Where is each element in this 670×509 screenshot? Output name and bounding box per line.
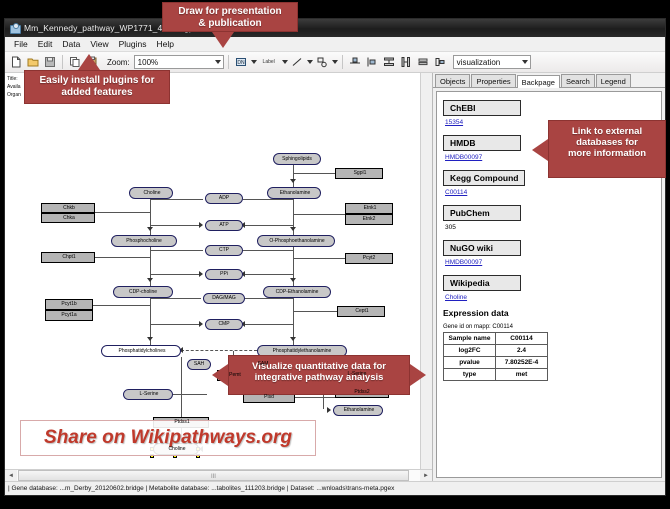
pathway-node-cmp[interactable]: CMP	[205, 319, 243, 330]
scroll-grip-icon: III	[211, 474, 216, 480]
tab-search[interactable]: Search	[561, 74, 595, 87]
toolbar-separator	[228, 55, 229, 69]
group-button[interactable]	[432, 54, 448, 70]
zoom-label: Zoom:	[107, 58, 130, 67]
pathway-gene-sgpl1[interactable]: Sgpl1	[335, 168, 383, 179]
side-panel-tabs: Objects Properties Backpage Search Legen…	[433, 73, 665, 88]
node-label: Cept1	[354, 309, 369, 314]
expr-value: met	[496, 369, 548, 381]
pathway-gene-pcyt1a[interactable]: Pcyt1a	[45, 310, 93, 321]
edge	[293, 165, 294, 187]
node-label: L-Serine	[139, 392, 160, 397]
pathway-node-l-serine-left[interactable]: L-Serine	[123, 389, 173, 400]
distribute-vertical-button[interactable]	[381, 54, 397, 70]
pathway-gene-cept1[interactable]: Cept1	[337, 306, 385, 317]
node-label: Chpt1	[61, 255, 76, 260]
open-file-button[interactable]	[25, 54, 41, 70]
pathway-node-ppi[interactable]: PPi	[205, 269, 243, 280]
chevron-down-icon	[522, 60, 528, 64]
canvas-vertical-scrollbar[interactable]	[420, 73, 432, 469]
node-label: Ptdss1	[173, 420, 190, 425]
pathway-canvas[interactable]: Title: Availa Organ	[5, 73, 432, 469]
pathway-gene-chka[interactable]: Chka	[41, 213, 95, 223]
table-row: log2FC 2.4	[444, 345, 548, 357]
db-header-hmdb: HMDB	[443, 135, 521, 151]
scroll-left-icon[interactable]: ◄	[5, 470, 17, 481]
pathway-gene-pcyt1b[interactable]: Pcyt1b	[45, 299, 93, 310]
expr-key: pvalue	[444, 357, 496, 369]
expr-key: log2FC	[444, 345, 496, 357]
pathway-node-phosphatidylcholines[interactable]: Phosphatidylcholines	[101, 345, 181, 357]
scroll-track[interactable]: III	[17, 470, 420, 481]
expression-data-title: Expression data	[443, 308, 661, 318]
edge	[151, 298, 201, 299]
db-header-chebi: ChEBI	[443, 100, 521, 116]
edge	[95, 212, 151, 213]
edge	[93, 305, 151, 306]
chevron-down-icon[interactable]	[251, 60, 257, 64]
node-label: SAM	[257, 362, 270, 367]
pathway-node-o-phosphoethanolamine[interactable]: O-Phosphoethanolamine	[257, 235, 335, 247]
pathway-node-choline[interactable]: Choline	[129, 187, 173, 199]
db-header-wikipedia: Wikipedia	[443, 275, 521, 291]
arrowhead-icon	[290, 278, 296, 282]
expr-key: type	[444, 369, 496, 381]
node-label: Etnk2	[362, 217, 377, 222]
arrowhead-icon	[147, 278, 153, 282]
edge	[293, 173, 335, 174]
menu-view[interactable]: View	[85, 38, 113, 50]
callout-visualize-arrow-right-icon	[410, 364, 426, 386]
arrowhead-icon	[290, 227, 296, 231]
node-label: Choline	[143, 191, 162, 196]
new-file-button[interactable]	[8, 54, 24, 70]
edge	[243, 199, 293, 200]
menubar: File Edit Data View Plugins Help	[5, 37, 665, 52]
edge	[245, 298, 293, 299]
tab-backpage[interactable]: Backpage	[517, 75, 560, 88]
node-label: SAH	[193, 362, 205, 367]
save-file-button[interactable]	[42, 54, 58, 70]
canvas-horizontal-scrollbar[interactable]: ◄ III ►	[5, 469, 432, 481]
node-label: Ethanolamine	[343, 408, 376, 413]
arrowhead-icon	[147, 227, 153, 231]
edge	[293, 311, 337, 312]
datanode-button[interactable]: DN	[233, 54, 249, 70]
pathway-node-cdp-choline[interactable]: CDP-choline	[113, 286, 173, 298]
label-button[interactable]: Label	[258, 54, 280, 70]
menu-file[interactable]: File	[9, 38, 33, 50]
tab-objects[interactable]: Objects	[435, 74, 470, 87]
pathway-node-dag-mag[interactable]: DAG/MAG	[203, 293, 245, 304]
zoom-combo[interactable]: 100%	[134, 55, 224, 69]
chevron-down-icon	[215, 60, 221, 64]
db-link-kegg-compound[interactable]: C00114	[445, 189, 661, 196]
pathway-node-ctp[interactable]: CTP	[205, 245, 243, 256]
node-label: Chka	[62, 216, 76, 221]
expr-value: 7.80252E-4	[496, 357, 548, 369]
node-label: CMP	[217, 322, 230, 327]
pathway-node-adp[interactable]: ADP	[205, 193, 243, 204]
node-label: CTP	[218, 248, 230, 253]
node-label: ADP	[218, 196, 230, 201]
expr-value: 2.4	[496, 345, 548, 357]
scroll-right-icon[interactable]: ►	[420, 470, 432, 481]
edge	[151, 250, 203, 251]
expr-key: Sample name	[444, 333, 496, 345]
node-label: Pcyt2	[362, 256, 377, 261]
arrowhead-icon	[290, 179, 296, 183]
node-label: DAG/MAG	[211, 296, 237, 301]
node-label: Etnk1	[363, 206, 378, 211]
line-button[interactable]	[289, 54, 305, 70]
info-availability-label: Availa	[7, 83, 21, 91]
node-label: Sgpl1	[353, 171, 368, 176]
edge	[151, 225, 201, 226]
shape-button[interactable]	[314, 54, 330, 70]
callout-visualize-arrow-left-icon	[212, 364, 228, 386]
node-label: O-Phosphoethanolamine	[268, 239, 325, 244]
expression-gene-id: Gene id on mapp: C00114	[443, 324, 661, 330]
arrowhead-icon	[199, 222, 203, 228]
pathvisio-icon	[9, 23, 20, 34]
callout-visualize: Visualize quantitative data for integrat…	[228, 355, 410, 395]
tab-properties[interactable]: Properties	[471, 74, 515, 87]
node-label: Phosphatidylcholines	[118, 349, 167, 354]
db-value-pubchem: 305	[445, 224, 661, 231]
edge-dashed	[181, 350, 257, 351]
db-header-nugo-wiki: NuGO wiki	[443, 240, 521, 256]
db-header-pubchem: PubChem	[443, 205, 521, 221]
scroll-thumb[interactable]: III	[18, 470, 409, 481]
pathway-node-sphingolipids[interactable]: Sphingolipids	[273, 153, 321, 165]
toolbar-separator	[62, 55, 63, 69]
db-header-kegg-compound: Kegg Compound	[443, 170, 525, 186]
pathway-node-cdp-ethanolamine[interactable]: CDP-Ethanolamine	[263, 286, 331, 298]
pathway-gene-chpt1[interactable]: Chpt1	[41, 252, 95, 263]
label-button-text: Label	[263, 59, 275, 65]
callout-link-arrow-icon	[532, 139, 548, 161]
edge	[151, 274, 201, 275]
menu-plugins[interactable]: Plugins	[114, 38, 152, 50]
align-left-button[interactable]	[364, 54, 380, 70]
toolbar-separator	[342, 55, 343, 69]
db-link-nugo-wiki[interactable]: HMDB00097	[445, 259, 661, 266]
node-label: Ptdss2	[353, 390, 370, 395]
pathway-info-labels: Title: Availa Organ	[7, 75, 21, 99]
expression-table: Sample name C00114 log2FC 2.4 pvalue 7.8…	[443, 332, 548, 381]
callout-draw-arrow-icon	[212, 32, 234, 48]
node-label: Pcyt1a	[60, 313, 77, 318]
node-label: Ethanolamine	[279, 191, 312, 196]
chevron-down-icon[interactable]	[332, 60, 338, 64]
stack-button[interactable]	[415, 54, 431, 70]
node-label: Pcyt1b	[60, 302, 77, 307]
arrowhead-icon	[199, 271, 203, 277]
tab-legend[interactable]: Legend	[596, 74, 631, 87]
info-title-label: Title:	[7, 75, 21, 83]
edge	[243, 250, 293, 251]
node-label: Chkb	[62, 206, 76, 211]
pathway-node-sah[interactable]: SAH	[187, 359, 211, 370]
chevron-down-icon[interactable]	[282, 60, 288, 64]
node-label: Sphingolipids	[281, 157, 313, 162]
callout-plugins-arrow-icon	[78, 54, 100, 70]
callout-link: Link to external databases for more info…	[548, 120, 666, 178]
arrowhead-icon	[327, 407, 331, 413]
node-label: L-Serine	[347, 372, 368, 377]
menu-edit[interactable]: Edit	[33, 38, 58, 50]
node-label: Pemt	[228, 373, 242, 378]
edge	[293, 258, 345, 259]
callout-draw: Draw for presentation & publication	[162, 2, 298, 32]
edge	[95, 257, 151, 258]
arrowhead-icon	[290, 337, 296, 341]
table-row: type met	[444, 369, 548, 381]
pathway-gene-chkb[interactable]: Chkb	[41, 203, 95, 213]
pathway-node-ethanolamine[interactable]: Ethanolamine	[267, 187, 321, 199]
db-link-wikipedia[interactable]: Choline	[445, 294, 661, 301]
edge	[295, 397, 335, 398]
pathway-node-atp[interactable]: ATP	[205, 220, 243, 231]
info-organism-label: Organ	[7, 91, 21, 99]
menu-help[interactable]: Help	[152, 38, 179, 50]
edge	[245, 225, 293, 226]
node-label: ATP	[218, 223, 229, 228]
arrowhead-icon	[199, 321, 203, 327]
svg-text:DN: DN	[237, 60, 245, 66]
node-label: Phosphocholine	[125, 239, 163, 244]
node-label: Pisd	[263, 395, 275, 400]
window-titlebar: Mm_Kennedy_pathway_WP1771_45176.gpml	[5, 19, 665, 37]
zoom-value: 100%	[138, 58, 158, 67]
edge	[173, 394, 207, 395]
pathway-gene-pcyt2[interactable]: Pcyt2	[345, 253, 393, 264]
node-label: PPi	[219, 272, 229, 277]
chevron-down-icon[interactable]	[307, 60, 313, 64]
node-label: CDP-choline	[128, 290, 158, 295]
visualization-value: visualization	[457, 58, 501, 67]
edge	[151, 324, 201, 325]
screenshot-root: Mm_Kennedy_pathway_WP1771_45176.gpml Fil…	[0, 0, 670, 509]
pathway-gene-etnk1[interactable]: Etnk1	[345, 203, 393, 214]
pathway-gene-etnk2[interactable]: Etnk2	[345, 214, 393, 225]
pathway-node-ethanolamine-bottom[interactable]: Ethanolamine	[333, 405, 383, 416]
edge	[245, 274, 293, 275]
node-label: CDP-Ethanolamine	[275, 290, 320, 295]
table-row: Sample name C00114	[444, 333, 548, 345]
pathway-node-phosphocholine[interactable]: Phosphocholine	[111, 235, 177, 247]
node-label: Choline	[168, 447, 187, 452]
edge	[151, 199, 203, 200]
menu-data[interactable]: Data	[57, 38, 85, 50]
edge	[293, 214, 345, 215]
distribute-horizontal-button[interactable]	[398, 54, 414, 70]
edge	[245, 324, 293, 325]
statusbar-text: | Gene database: ...m_Derby_20120602.bri…	[8, 485, 394, 492]
visualization-combo[interactable]: visualization	[453, 55, 531, 69]
statusbar: | Gene database: ...m_Derby_20120602.bri…	[5, 481, 665, 495]
expr-value: C00114	[496, 333, 548, 345]
callout-plugins: Easily install plugins for added feature…	[24, 70, 170, 104]
table-row: pvalue 7.80252E-4	[444, 357, 548, 369]
arrowhead-icon	[147, 337, 153, 341]
node-label: Phosphatidylethanolamine	[272, 349, 333, 354]
align-center-button[interactable]	[347, 54, 363, 70]
